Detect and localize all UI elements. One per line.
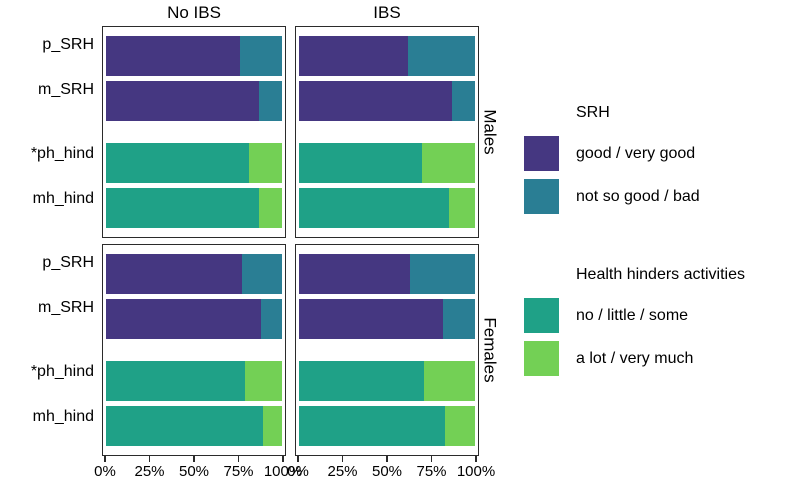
stacked-bar[interactable]: [106, 406, 282, 446]
facet-row-title-males: Males: [479, 26, 501, 238]
panel-males-ibs: [295, 26, 479, 238]
panel-females-ibs: [295, 244, 479, 456]
bar-segment[interactable]: [424, 361, 475, 401]
bar-slot: [299, 143, 475, 183]
bar-segment[interactable]: [299, 143, 422, 183]
y-label-m-srh-females: m_SRH: [2, 299, 94, 317]
legend-title-health-hinders: Health hinders activities: [576, 266, 745, 284]
x-axis-tick-label: 25%: [327, 463, 357, 480]
x-axis-tick: [238, 456, 240, 462]
legend-label-not-so-good-bad: not so good / bad: [576, 188, 700, 206]
x-axis-tick-label: 100%: [457, 463, 495, 480]
bar-segment[interactable]: [249, 143, 282, 183]
bar-slot: [299, 81, 475, 121]
bar-segment[interactable]: [106, 361, 245, 401]
y-label-m-srh-males: m_SRH: [2, 81, 94, 99]
bar-slot: [106, 361, 282, 401]
bar-segment[interactable]: [106, 36, 240, 76]
bar-segment[interactable]: [106, 406, 263, 446]
bar-slot: [106, 36, 282, 76]
bar-segment[interactable]: [299, 188, 449, 228]
x-axis-tick: [386, 456, 388, 462]
x-axis-tick: [431, 456, 433, 462]
y-label-ph-hind-males: *ph_hind: [2, 145, 94, 163]
x-axis-tick: [149, 456, 151, 462]
faceted-stacked-bar-chart: No IBS IBS Males Females p_SRH m_SRH *ph…: [0, 0, 796, 480]
bar-slot: [299, 188, 475, 228]
bar-segment[interactable]: [299, 81, 452, 121]
bar-segment[interactable]: [445, 406, 475, 446]
x-axis-ibs: 0%25%50%75%100%: [295, 456, 479, 486]
stacked-bar[interactable]: [106, 299, 282, 339]
y-label-p-srh-males: p_SRH: [2, 36, 94, 54]
x-axis-tick-label: 50%: [179, 463, 209, 480]
stacked-bar[interactable]: [299, 254, 475, 294]
y-label-ph-hind-females: *ph_hind: [2, 363, 94, 381]
facet-row-label-females: Females: [480, 317, 500, 382]
bar-segment[interactable]: [263, 406, 282, 446]
bar-segment[interactable]: [240, 36, 282, 76]
x-axis-tick-label: 0%: [94, 463, 116, 480]
bar-slot: [299, 36, 475, 76]
x-axis-tick: [104, 456, 106, 462]
bar-slot: [106, 143, 282, 183]
legend-swatch-good-very-good: [524, 136, 559, 171]
legend-health-hinders: Health hinders activities no / little / …: [524, 266, 745, 380]
bar-slot: [106, 188, 282, 228]
stacked-bar[interactable]: [106, 254, 282, 294]
bar-segment[interactable]: [410, 254, 475, 294]
legend-item-not-so-good-bad[interactable]: not so good / bad: [524, 175, 700, 218]
bar-segment[interactable]: [422, 143, 475, 183]
stacked-bar[interactable]: [299, 299, 475, 339]
legend-swatch-a-lot-very-much: [524, 341, 559, 376]
stacked-bar[interactable]: [106, 361, 282, 401]
facet-row-title-females: Females: [479, 244, 501, 456]
x-axis-tick: [282, 456, 284, 462]
plot-area: [299, 29, 475, 235]
legend-swatch-not-so-good-bad: [524, 179, 559, 214]
bar-slot: [299, 254, 475, 294]
legend-label-no-little-some: no / little / some: [576, 307, 688, 325]
x-axis-tick: [193, 456, 195, 462]
stacked-bar[interactable]: [299, 188, 475, 228]
bar-slot: [106, 299, 282, 339]
bar-segment[interactable]: [106, 299, 261, 339]
x-axis-tick-label: 75%: [416, 463, 446, 480]
bar-segment[interactable]: [106, 81, 259, 121]
panel-males-no-ibs: [102, 26, 286, 238]
bar-segment[interactable]: [106, 143, 249, 183]
stacked-bar[interactable]: [106, 81, 282, 121]
plot-area: [299, 247, 475, 453]
legend-label-good-very-good: good / very good: [576, 145, 695, 163]
panel-females-no-ibs: [102, 244, 286, 456]
stacked-bar[interactable]: [299, 81, 475, 121]
legend-item-good-very-good[interactable]: good / very good: [524, 132, 700, 175]
facet-col-title-ibs: IBS: [295, 2, 479, 24]
bar-segment[interactable]: [299, 299, 443, 339]
stacked-bar[interactable]: [299, 143, 475, 183]
bar-segment[interactable]: [261, 299, 282, 339]
bar-slot: [106, 406, 282, 446]
bar-segment[interactable]: [106, 254, 242, 294]
stacked-bar[interactable]: [299, 406, 475, 446]
facet-col-title-no-ibs: No IBS: [102, 2, 286, 24]
x-axis-tick-label: 0%: [287, 463, 309, 480]
y-label-p-srh-females: p_SRH: [2, 254, 94, 272]
stacked-bar[interactable]: [299, 361, 475, 401]
bar-slot: [299, 361, 475, 401]
legend-title-srh: SRH: [576, 104, 700, 122]
bar-segment[interactable]: [408, 36, 475, 76]
legend-item-no-little-some[interactable]: no / little / some: [524, 294, 745, 337]
x-axis-tick: [297, 456, 299, 462]
bar-segment[interactable]: [259, 81, 282, 121]
plot-area: [106, 247, 282, 453]
bar-segment[interactable]: [443, 299, 475, 339]
bar-segment[interactable]: [299, 36, 408, 76]
x-axis-no-ibs: 0%25%50%75%100%: [102, 456, 286, 486]
bar-slot: [106, 81, 282, 121]
stacked-bar[interactable]: [106, 143, 282, 183]
legend-item-a-lot-very-much[interactable]: a lot / very much: [524, 337, 745, 380]
x-axis-tick: [342, 456, 344, 462]
y-label-mh-hind-males: mh_hind: [2, 190, 94, 208]
facet-row-label-males: Males: [480, 109, 500, 154]
stacked-bar[interactable]: [299, 36, 475, 76]
bar-segment[interactable]: [259, 188, 282, 228]
bar-segment[interactable]: [245, 361, 282, 401]
x-axis-tick-label: 50%: [372, 463, 402, 480]
x-axis-tick-label: 25%: [134, 463, 164, 480]
legend-label-a-lot-very-much: a lot / very much: [576, 350, 693, 368]
bar-segment[interactable]: [242, 254, 282, 294]
stacked-bar[interactable]: [106, 36, 282, 76]
bar-segment[interactable]: [106, 188, 259, 228]
x-axis-tick: [475, 456, 477, 462]
stacked-bar[interactable]: [106, 188, 282, 228]
y-label-mh-hind-females: mh_hind: [2, 408, 94, 426]
legend-srh: SRH good / very good not so good / bad: [524, 104, 700, 218]
legend-swatch-no-little-some: [524, 298, 559, 333]
plot-area: [106, 29, 282, 235]
x-axis-tick-label: 75%: [223, 463, 253, 480]
bar-segment[interactable]: [299, 254, 410, 294]
bar-segment[interactable]: [299, 361, 424, 401]
bar-slot: [299, 406, 475, 446]
bar-segment[interactable]: [452, 81, 475, 121]
bar-slot: [106, 254, 282, 294]
bar-segment[interactable]: [449, 188, 475, 228]
bar-segment[interactable]: [299, 406, 445, 446]
bar-slot: [299, 299, 475, 339]
